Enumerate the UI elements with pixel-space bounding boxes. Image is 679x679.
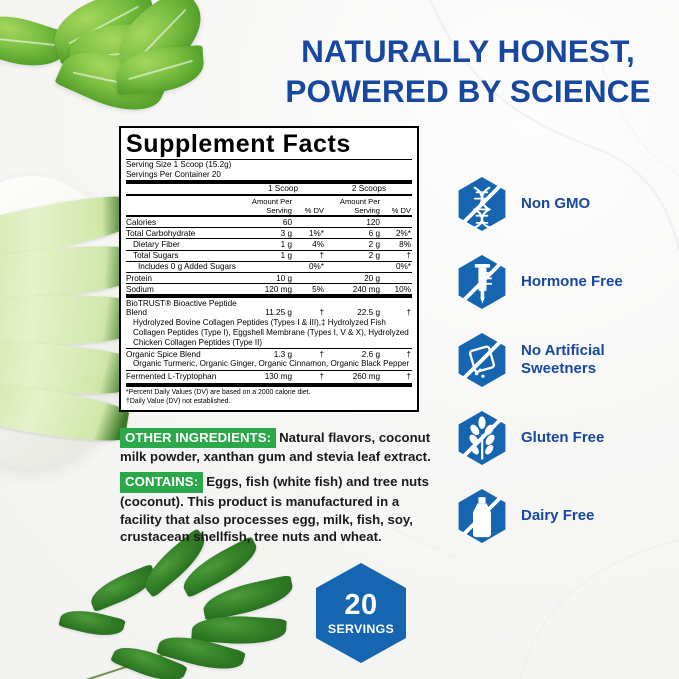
other-ingredients-tag: OTHER INGREDIENTS: xyxy=(120,428,276,448)
contains-tag: CONTAINS: xyxy=(120,472,203,493)
leaf-stem xyxy=(84,625,254,679)
sweetener-packet-icon xyxy=(455,331,509,389)
blend-detail-row: Organic Turmeric, Organic Ginger, Organi… xyxy=(126,359,412,370)
white-bowl xyxy=(0,176,138,468)
basil-leaf xyxy=(54,37,169,125)
frond-leaflet xyxy=(86,564,160,612)
cucumber-slice xyxy=(0,377,130,447)
blend-row: Organic Spice Blend 1.3 g † 2.6 g † xyxy=(126,349,412,360)
column-header-row: Amount Per Serving % DV Amount Per Servi… xyxy=(126,195,412,216)
headline-line-1: NATURALLY HONEST, xyxy=(301,33,635,69)
syringe-icon xyxy=(455,253,509,311)
benefit-dairy-free: Dairy Free xyxy=(455,484,679,548)
basil-leaf xyxy=(103,0,216,88)
green-leaf-frond-photo xyxy=(52,548,302,679)
table-row: Includes 0 g Added Sugars 0%* 0%* xyxy=(126,261,412,272)
frond-leaflet xyxy=(58,605,125,642)
blend-row: BioTRUST® Bioactive Peptide Blend 11.25 … xyxy=(126,296,412,317)
cucumber-slice xyxy=(0,240,138,307)
milk-bottle-icon xyxy=(455,487,509,545)
wheat-icon xyxy=(455,409,509,467)
serving-size: Serving Size 1 Scoop (15.2g) xyxy=(126,160,412,170)
benefit-no-artificial-sweetners: No Artificial Sweetners xyxy=(455,328,679,392)
basil-leaf xyxy=(0,4,71,77)
table-row: Calories 60 120 xyxy=(126,216,412,228)
hexagon-badge-shape xyxy=(313,562,409,664)
blend-row: Fermented L-Tryptophan 130 mg † 260 mg † xyxy=(126,371,412,382)
col-header-amount-2: Amount Per Serving xyxy=(326,195,384,216)
col-header-dv-2: % DV xyxy=(384,195,412,216)
contains-block: CONTAINS:Eggs, fish (white fish) and tre… xyxy=(120,472,442,546)
dna-icon xyxy=(455,175,509,233)
cucumber-slice xyxy=(0,338,135,399)
benefits-list: Non GMO Hormone Free xyxy=(455,172,679,562)
servings-badge: 20 SERVINGS xyxy=(313,562,409,664)
table-row: Total Sugars 1 g † 2 g † xyxy=(126,250,412,261)
footnote-percent-dv: *Percent Daily Values (DV) are based on … xyxy=(126,387,412,398)
benefit-gluten-free: Gluten Free xyxy=(455,406,679,470)
footnote-dagger: †Daily Value (DV) not established. xyxy=(126,398,412,407)
supplement-facts-table: 1 Scoop 2 Scoops Amount Per Serving % DV… xyxy=(126,180,412,382)
basil-leaf xyxy=(67,18,190,88)
benefit-label: No Artificial Sweetners xyxy=(521,342,679,379)
servings-per-container: Servings Per Container 20 xyxy=(126,170,412,180)
cucumber-slice xyxy=(0,293,137,350)
table-row: Total Carbohydrate 3 g 1%* 6 g 2%* xyxy=(126,228,412,239)
benefit-label: Non GMO xyxy=(521,195,590,213)
cucumber-slice xyxy=(0,190,135,267)
table-row: Sodium 120 mg 5% 240 mg 10% xyxy=(126,284,412,297)
benefit-label: Dairy Free xyxy=(521,507,594,525)
frond-leaflet xyxy=(156,629,246,678)
benefit-label: Hormone Free xyxy=(521,273,623,291)
col-header-amount-1: Amount Per Serving xyxy=(240,195,296,216)
product-label-infographic: NATURALLY HONEST, POWERED BY SCIENCE Sup… xyxy=(0,0,679,679)
benefit-label: Gluten Free xyxy=(521,429,604,447)
blend-detail-row: Hydrolyzed Bovine Collagen Peptides (Typ… xyxy=(126,318,412,349)
scoop-header-row: 1 Scoop 2 Scoops xyxy=(126,182,412,195)
basil-leaf xyxy=(47,0,162,65)
supplement-facts-panel: Supplement Facts Serving Size 1 Scoop (1… xyxy=(119,126,419,412)
benefit-hormone-free: Hormone Free xyxy=(455,250,679,314)
frond-leaflet xyxy=(200,575,296,622)
headline: NATURALLY HONEST, POWERED BY SCIENCE xyxy=(268,31,668,111)
frond-leaflet xyxy=(110,639,188,679)
scoop-header-2: 2 Scoops xyxy=(326,182,412,195)
headline-line-2: POWERED BY SCIENCE xyxy=(268,71,668,111)
basil-leaf xyxy=(115,45,206,95)
table-row: Protein 10 g 20 g xyxy=(126,273,412,284)
col-header-dv-1: % DV xyxy=(296,195,326,216)
other-ingredients-block: OTHER INGREDIENTS:Natural flavors, cocon… xyxy=(120,428,440,466)
scoop-header-1: 1 Scoop xyxy=(240,182,326,195)
frond-leaflet xyxy=(191,613,287,647)
supplement-facts-title: Supplement Facts xyxy=(126,132,412,157)
benefit-non-gmo: Non GMO xyxy=(455,172,679,236)
table-row: Dietary Fiber 1 g 4% 2 g 8% xyxy=(126,239,412,250)
